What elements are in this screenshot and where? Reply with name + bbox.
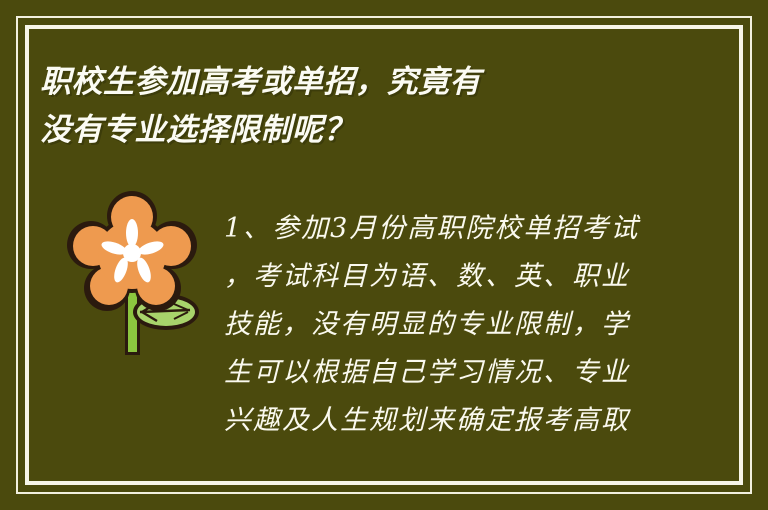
body-line-5: 兴趣及人生规划来确定报考高取	[224, 397, 654, 445]
body-line-1: 1、参加3月份高职院校单招考试	[224, 205, 654, 253]
body-line-3: 技能，没有明显的专业限制，学	[224, 301, 654, 349]
flower-illustration	[62, 190, 212, 380]
body-text: 1、参加3月份高职院校单招考试 ，考试科目为语、数、英、职业 技能，没有明显的专…	[224, 205, 654, 445]
body-line-4: 生可以根据自己学习情况、专业	[224, 349, 654, 397]
poster-canvas: 职校生参加高考或单招，究竟有 没有专业选择限制呢？	[0, 0, 768, 510]
title-line-2: 没有专业选择限制呢？	[40, 106, 640, 154]
title-line-1: 职校生参加高考或单招，究竟有	[40, 58, 640, 106]
body-line-2: ，考试科目为语、数、英、职业	[224, 253, 654, 301]
page-title: 职校生参加高考或单招，究竟有 没有专业选择限制呢？	[40, 58, 640, 154]
